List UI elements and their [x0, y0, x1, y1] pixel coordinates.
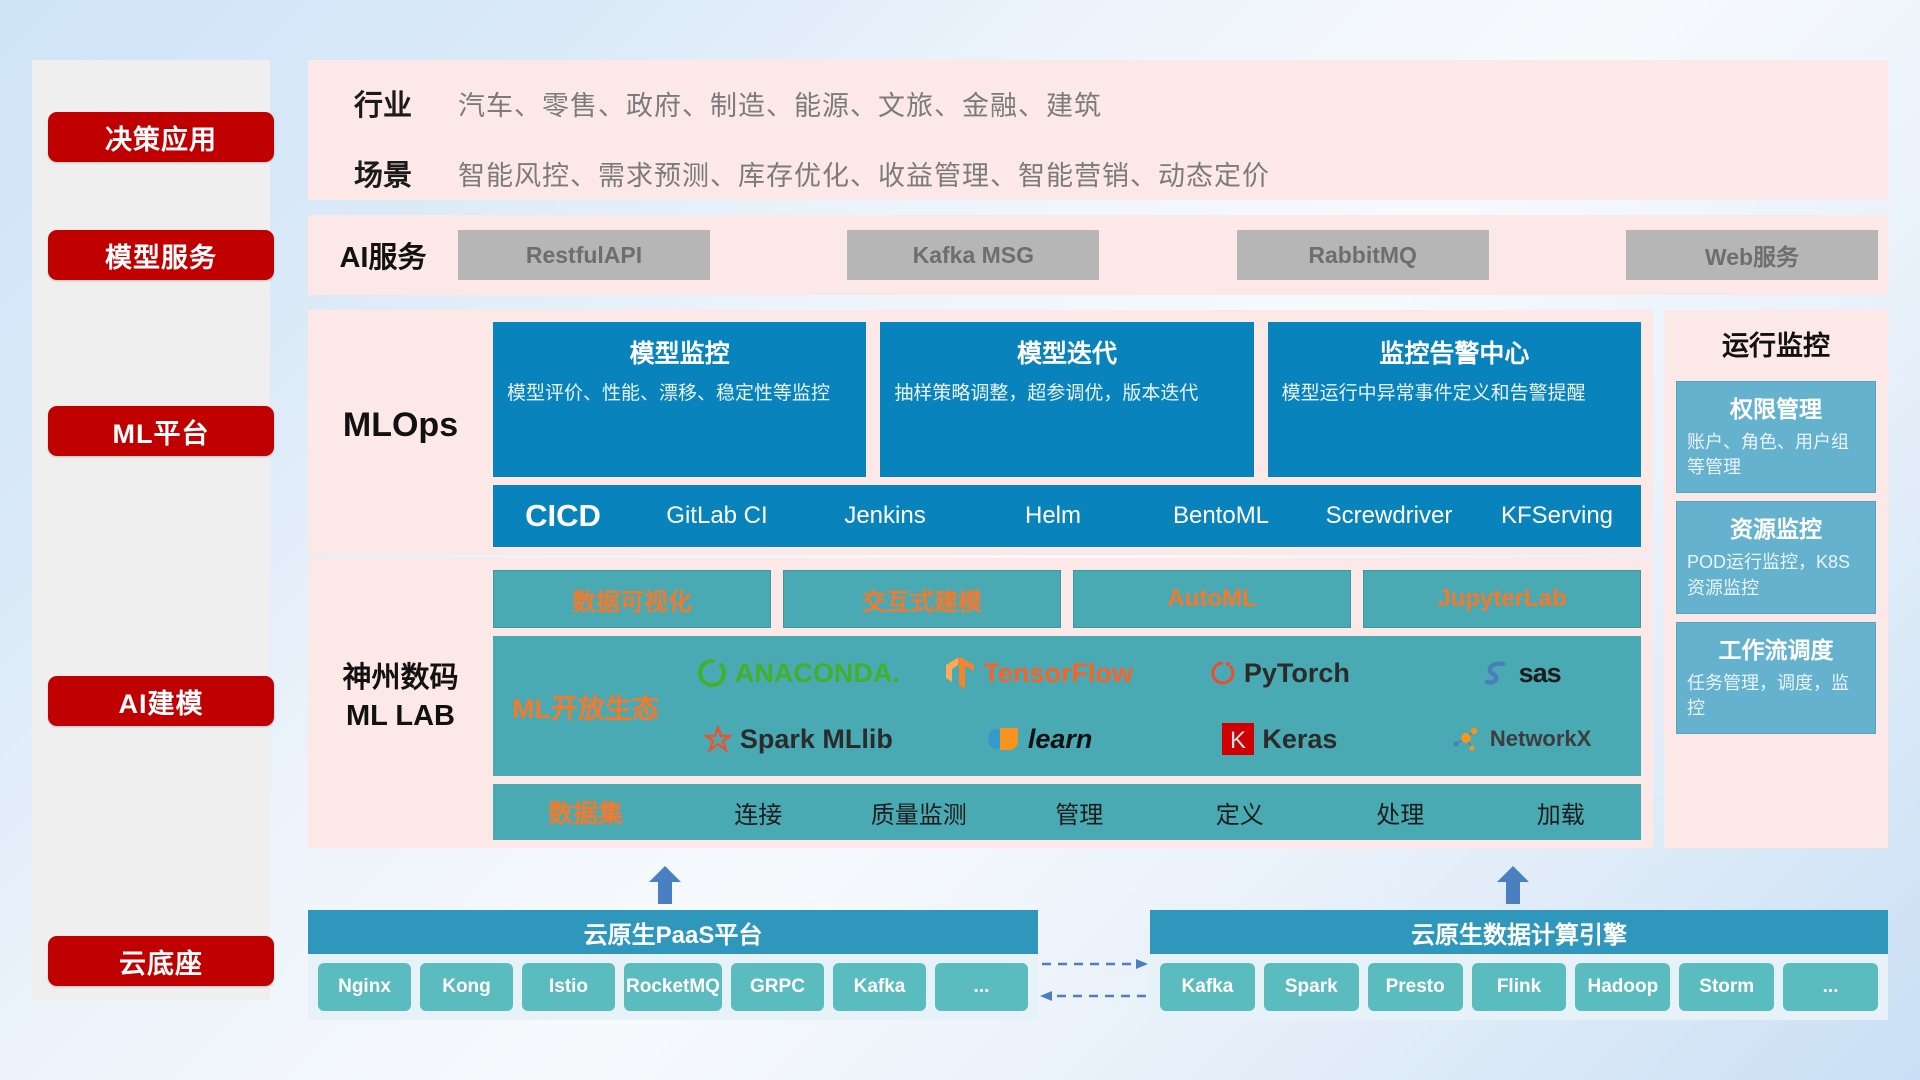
cicd-row: CICD GitLab CI Jenkins Helm BentoML Scre… — [493, 485, 1641, 547]
card-desc: 模型运行中异常事件定义和告警提醒 — [1282, 380, 1627, 408]
svg-text:K: K — [1230, 727, 1246, 754]
pytorch-logo-text: PyTorch — [1244, 658, 1350, 689]
ml-ecosystem-label: ML开放生态 — [493, 687, 678, 726]
cloud-native-data-compute-engine: 云原生数据计算引擎 Kafka Spark Presto Flink Hadoo… — [1150, 910, 1888, 1020]
dataset-label: 数据集 — [493, 794, 678, 830]
data-engine-chip-hadoop[interactable]: Hadoop — [1575, 963, 1670, 1011]
sidebar-item-label: AI建模 — [119, 682, 204, 721]
cicd-tool-bentoml[interactable]: BentoML — [1137, 485, 1305, 533]
card-title: 模型迭代 — [894, 334, 1239, 370]
tab-interactive-modeling[interactable]: 交互式建模 — [783, 570, 1061, 628]
tab-data-visualization[interactable]: 数据可视化 — [493, 570, 771, 628]
ai-service-items: RestfulAPI Kafka MSG RabbitMQ Web服务 — [458, 230, 1888, 280]
spark-mllib-logo-text: Spark MLlib — [740, 724, 893, 755]
cicd-label: CICD — [493, 485, 633, 547]
data-engine-chip-kafka[interactable]: Kafka — [1160, 963, 1255, 1011]
card-desc: 模型评价、性能、漂移、稳定性等监控 — [507, 380, 852, 408]
ml-lab-panel: 神州数码 ML LAB 数据可视化 交互式建模 AutoML JupyterLa… — [308, 558, 1653, 848]
card-title: 权限管理 — [1687, 390, 1865, 424]
spark-star-icon — [704, 726, 732, 752]
data-engine-chip-more[interactable]: ... — [1783, 963, 1878, 1011]
data-engine-chip-spark[interactable]: Spark — [1264, 963, 1359, 1011]
ai-service-chip-kafka-msg[interactable]: Kafka MSG — [847, 230, 1099, 280]
sidebar-item-label: 云底座 — [119, 942, 203, 981]
card-title: 模型监控 — [507, 334, 852, 370]
scenario-row: 场景 智能风控、需求预测、库存优化、收益管理、智能营销、动态定价 — [308, 138, 1888, 208]
mlops-card-alert-center[interactable]: 监控告警中心 模型运行中异常事件定义和告警提醒 — [1268, 322, 1641, 477]
sidebar-item-cloud-base[interactable]: 云底座 — [48, 936, 274, 986]
industry-row: 行业 汽车、零售、政府、制造、能源、文旅、金融、建筑 — [308, 68, 1888, 138]
tensorflow-logo-text: TensorFlow — [983, 658, 1133, 689]
industry-label: 行业 — [308, 82, 458, 124]
scenario-label: 场景 — [308, 152, 458, 194]
paas-chip-rocketmq[interactable]: RocketMQ — [624, 963, 722, 1011]
sidebar-item-ai-modeling[interactable]: AI建模 — [48, 676, 274, 726]
card-desc: 任务管理，调度，监控 — [1687, 671, 1865, 721]
mlops-card-model-monitoring[interactable]: 模型监控 模型评价、性能、漂移、稳定性等监控 — [493, 322, 866, 477]
scikit-learn-logo: learn — [986, 724, 1093, 755]
keras-logo-text: Keras — [1262, 724, 1337, 755]
tab-jupyterlab[interactable]: JupyterLab — [1363, 570, 1641, 628]
card-title: 资源监控 — [1687, 510, 1865, 544]
ml-ecosystem-row: ML开放生态 ANACONDA. TensorFlow — [493, 636, 1641, 776]
cicd-tool-gitlab-ci[interactable]: GitLab CI — [633, 485, 801, 533]
keras-logo: K Keras — [1222, 723, 1337, 755]
bidirectional-dashed-connector-icon — [1040, 948, 1148, 1008]
networkx-logo-text: NetworkX — [1490, 726, 1591, 752]
mlops-label: MLOps — [308, 406, 493, 445]
paas-chip-kafka[interactable]: Kafka — [833, 963, 926, 1011]
cicd-tool-screwdriver[interactable]: Screwdriver — [1305, 485, 1473, 533]
networkx-logo: NetworkX — [1450, 724, 1591, 754]
paas-chip-list: Nginx Kong Istio RocketMQ GRPC Kafka ... — [308, 954, 1038, 1020]
card-desc: POD运行监控，K8S资源监控 — [1687, 550, 1865, 600]
pytorch-logo: PyTorch — [1210, 658, 1350, 689]
sidebar-item-ml-platform[interactable]: ML平台 — [48, 406, 274, 456]
pytorch-flame-icon — [1210, 658, 1236, 688]
dataset-item-quality[interactable]: 质量监测 — [839, 795, 1000, 830]
dataset-item-connect[interactable]: 连接 — [678, 795, 839, 830]
paas-chip-istio[interactable]: Istio — [522, 963, 615, 1011]
ml-lab-tab-list: 数据可视化 交互式建模 AutoML JupyterLab — [493, 570, 1641, 628]
monitor-card-workflow[interactable]: 工作流调度 任务管理，调度，监控 — [1676, 622, 1876, 734]
data-engine-chip-list: Kafka Spark Presto Flink Hadoop Storm ..… — [1150, 954, 1888, 1020]
industry-values: 汽车、零售、政府、制造、能源、文旅、金融、建筑 — [458, 84, 1102, 123]
card-desc: 抽样策略调整，超参调优，版本迭代 — [894, 380, 1239, 408]
cicd-tool-helm[interactable]: Helm — [969, 485, 1137, 533]
keras-mark-icon: K — [1222, 723, 1254, 755]
sas-mark-icon — [1481, 658, 1511, 688]
ai-service-chip-web[interactable]: Web服务 — [1626, 230, 1878, 280]
data-engine-chip-storm[interactable]: Storm — [1679, 963, 1774, 1011]
ml-lab-label: 神州数码 ML LAB — [308, 660, 493, 735]
decision-application-panel: 行业 汽车、零售、政府、制造、能源、文旅、金融、建筑 场景 智能风控、需求预测、… — [308, 60, 1888, 200]
arrow-up-icon-paas — [648, 866, 682, 904]
tensorflow-logo: TensorFlow — [945, 656, 1133, 690]
monitor-card-resource[interactable]: 资源监控 POD运行监控，K8S资源监控 — [1676, 501, 1876, 613]
data-engine-chip-flink[interactable]: Flink — [1472, 963, 1567, 1011]
paas-chip-kong[interactable]: Kong — [420, 963, 513, 1011]
card-title: 监控告警中心 — [1282, 334, 1627, 370]
data-engine-title: 云原生数据计算引擎 — [1150, 910, 1888, 954]
ml-ecosystem-logos: ANACONDA. TensorFlow PyTorch — [678, 640, 1641, 772]
cicd-tool-kfserving[interactable]: KFServing — [1473, 485, 1641, 533]
paas-title: 云原生PaaS平台 — [308, 910, 1038, 954]
scenario-values: 智能风控、需求预测、库存优化、收益管理、智能营销、动态定价 — [458, 154, 1270, 193]
data-engine-chip-presto[interactable]: Presto — [1368, 963, 1463, 1011]
sidebar-item-label: 模型服务 — [105, 236, 217, 275]
sas-logo-text: sas — [1519, 658, 1561, 689]
sidebar-item-model-service[interactable]: 模型服务 — [48, 230, 274, 280]
anaconda-logo: ANACONDA. — [697, 658, 900, 689]
card-desc: 账户、角色、用户组等管理 — [1687, 430, 1865, 480]
anaconda-logo-text: ANACONDA. — [735, 658, 900, 689]
dataset-item-manage[interactable]: 管理 — [999, 795, 1160, 830]
ai-service-panel: AI服务 RestfulAPI Kafka MSG RabbitMQ Web服务 — [308, 215, 1888, 295]
ml-lab-label-line1: 神州数码 — [308, 660, 493, 698]
dataset-row: 数据集 连接 质量监测 管理 定义 处理 加载 — [493, 784, 1641, 840]
networkx-graph-icon — [1450, 724, 1482, 754]
layer-rail — [32, 60, 270, 1000]
paas-chip-nginx[interactable]: Nginx — [318, 963, 411, 1011]
arrow-up-icon-data-engine — [1496, 866, 1530, 904]
scikit-learn-logo-text: learn — [1028, 724, 1093, 755]
ai-service-chip-restfulapi[interactable]: RestfulAPI — [458, 230, 710, 280]
cicd-tool-jenkins[interactable]: Jenkins — [801, 485, 969, 533]
monitor-card-permission[interactable]: 权限管理 账户、角色、用户组等管理 — [1676, 381, 1876, 493]
mlops-panel: MLOps 模型监控 模型评价、性能、漂移、稳定性等监控 模型迭代 抽样策略调整… — [308, 310, 1653, 555]
ai-service-chip-rabbitmq[interactable]: RabbitMQ — [1237, 230, 1489, 280]
mlops-card-list: 模型监控 模型评价、性能、漂移、稳定性等监控 模型迭代 抽样策略调整，超参调优，… — [493, 322, 1641, 477]
runtime-monitor-title: 运行监控 — [1664, 310, 1888, 373]
dataset-item-define[interactable]: 定义 — [1160, 795, 1321, 830]
dataset-item-load[interactable]: 加载 — [1481, 795, 1642, 830]
spark-mllib-logo: Spark MLlib — [704, 724, 893, 755]
dataset-item-process[interactable]: 处理 — [1320, 795, 1481, 830]
runtime-monitor-panel: 运行监控 权限管理 账户、角色、用户组等管理 资源监控 POD运行监控，K8S资… — [1664, 310, 1888, 848]
cloud-native-paas-platform: 云原生PaaS平台 Nginx Kong Istio RocketMQ GRPC… — [308, 910, 1038, 1020]
architecture-diagram: 决策应用 模型服务 ML平台 AI建模 云底座 行业 汽车、零售、政府、制造、能… — [0, 0, 1920, 1080]
ai-service-label: AI服务 — [308, 234, 458, 276]
paas-chip-grpc[interactable]: GRPC — [731, 963, 824, 1011]
tensorflow-mark-icon — [945, 656, 975, 690]
sas-logo: sas — [1481, 658, 1561, 689]
tab-automl[interactable]: AutoML — [1073, 570, 1351, 628]
sidebar-item-label: ML平台 — [113, 412, 210, 451]
ml-lab-label-line2: ML LAB — [308, 698, 493, 736]
sidebar-item-label: 决策应用 — [105, 118, 217, 157]
paas-chip-more[interactable]: ... — [935, 963, 1028, 1011]
card-title: 工作流调度 — [1687, 631, 1865, 665]
sidebar-item-decision-app[interactable]: 决策应用 — [48, 112, 274, 162]
anaconda-mark-icon — [697, 658, 727, 688]
scikit-learn-mark-icon — [986, 724, 1020, 754]
mlops-card-model-iteration[interactable]: 模型迭代 抽样策略调整，超参调优，版本迭代 — [880, 322, 1253, 477]
